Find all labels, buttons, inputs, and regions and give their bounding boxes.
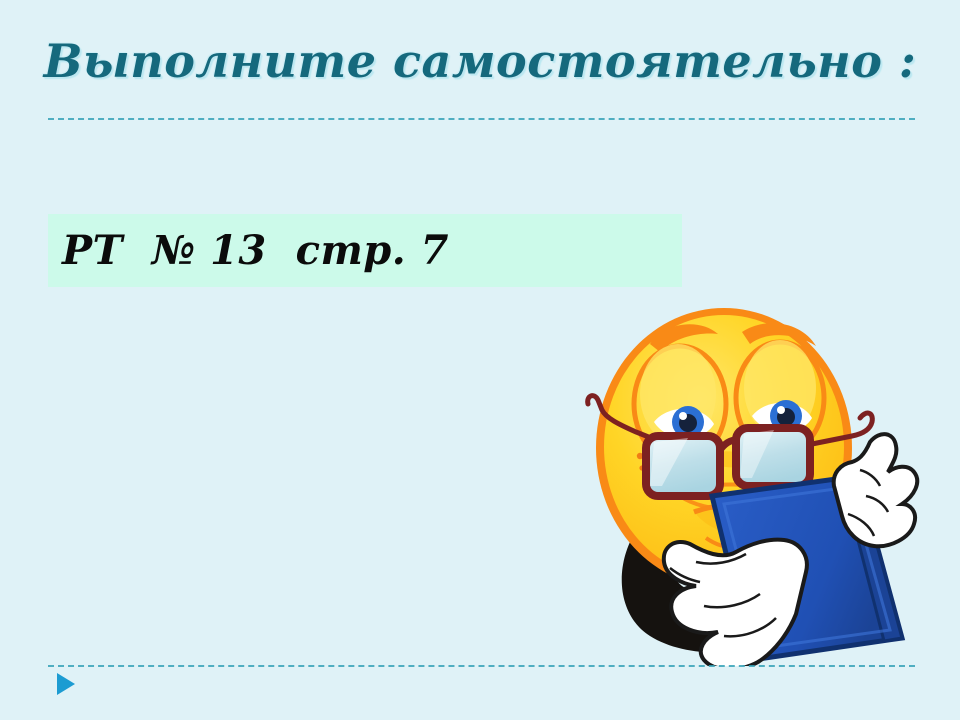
assignment-text: РТ № 13 стр. 7 — [62, 216, 449, 286]
divider-bottom — [48, 665, 915, 667]
page-title: Выполните самостоятельно : — [0, 34, 960, 88]
smiley-illustration-svg — [584, 300, 954, 666]
divider-top — [48, 118, 915, 120]
slide-canvas: Выполните самостоятельно : РТ № 13 стр. … — [0, 0, 960, 720]
triangle-bullet-icon[interactable] — [57, 673, 75, 695]
content-box: РТ № 13 стр. 7 — [48, 214, 682, 287]
smiley-with-glasses-holding-book-image — [584, 300, 954, 666]
